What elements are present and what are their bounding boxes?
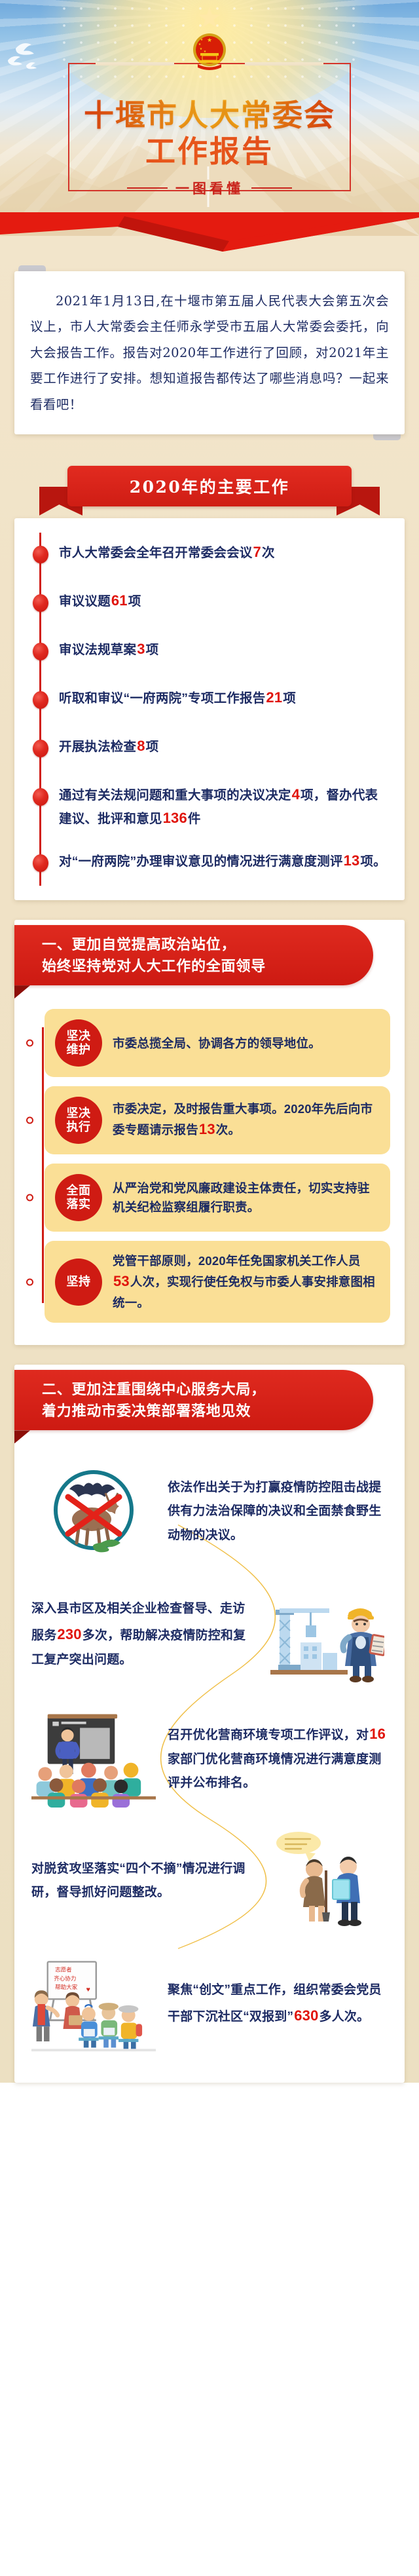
timeline-item: 通过有关法规问题和重大事项的决议决定4项，督办代表建议、批评和意见136件: [14, 783, 390, 829]
section-one-heading: 一、更加自觉提高政治站位， 始终坚持党对人大工作的全面领导: [14, 925, 373, 985]
highlight-number: 13: [343, 852, 361, 869]
page-title-line1: 十堰市人大常委会: [0, 98, 419, 133]
national-emblem-icon: ★ ★ ★ ★ ★: [191, 31, 228, 72]
timeline-dot-icon: [33, 788, 48, 806]
principle-card: 坚决 维护 市委总揽全局、协调各方的领导地位。: [45, 1009, 390, 1077]
highlight-number: 3: [136, 641, 145, 657]
highlight-number: 4: [291, 786, 301, 803]
timeline-item-text: 审议议题61项: [59, 589, 141, 613]
content-block: 召开优化营商环境专项工作评议，对16家部门优化营商环境情况进行满意度测评并公布排…: [14, 1696, 405, 1819]
highlight-number: 8: [136, 738, 145, 754]
red-ribbon-divider: [0, 212, 419, 263]
principle-card: 全面 落实 从严治党和党风廉政建设主体责任，切实支持驻机关纪检监察组履行职责。: [45, 1164, 390, 1232]
timeline-item: 开展执法检查8项: [14, 734, 390, 763]
highlight-number: 53: [113, 1273, 130, 1289]
timeline-item-text: 审议法规草案3项: [59, 637, 158, 661]
highlight-number: 21: [265, 689, 283, 706]
content-block: 深入县市区及相关企业检查督导、走访服务230多次，帮助解决疫情防控和复工复产突出…: [14, 1573, 405, 1696]
svg-text:♥: ♥: [86, 1986, 90, 1994]
timeline-dot-icon: [33, 546, 48, 563]
card-badge-label: 坚决 维护: [55, 1019, 102, 1067]
timeline-dot-icon: [33, 594, 48, 612]
timeline-item: 听取和审议“一府两院”专项工作报告21项: [14, 686, 390, 715]
section-two-heading: 二、更加注重围绕中心服务大局， 着力推动市委决策部署落地见效: [14, 1370, 373, 1430]
content-block-text: 对脱贫攻坚落实“四个不摘”情况进行调研，督导抓好问题整改。: [31, 1857, 251, 1905]
svg-text:志愿者: 志愿者: [55, 1966, 72, 1974]
content-block-text: 召开优化营商环境专项工作评议，对16家部门优化营商环境情况进行满意度测评并公布排…: [168, 1720, 388, 1796]
content-block: 对脱贫攻坚落实“四个不摘”情况进行调研，督导抓好问题整改。: [14, 1819, 405, 1942]
subtitle-rule-right: [251, 187, 292, 189]
card-badge-label: 坚决 执行: [55, 1097, 102, 1144]
timeline-panel: 市人大常委会全年召开常委会会议7次 审议议题61项 审议法规草案3项 听取和审议…: [14, 518, 405, 900]
subtitle-row: 一图看懂: [0, 178, 419, 198]
section-two-panel: 二、更加注重围绕中心服务大局， 着力推动市委决策部署落地见效: [14, 1365, 405, 2083]
svg-text:★: ★: [198, 43, 202, 47]
card-node-dot-icon: [26, 1117, 33, 1124]
timeline-dot-icon: [33, 691, 48, 709]
svg-text:★: ★: [200, 47, 203, 51]
highlight-number: 630: [293, 2007, 319, 2024]
section-one-heading-text: 一、更加自觉提高政治站位， 始终坚持党对人大工作的全面领导: [42, 934, 266, 977]
no-wild-animals-icon: [31, 1459, 156, 1564]
highlight-number: 230: [56, 1626, 82, 1642]
timeline-dot-icon: [33, 643, 48, 660]
banner-label: 2020年的主要工作: [130, 474, 290, 498]
card-body-text: 党管干部原则，2020年任免国家机关工作人员53人次，实现行使任免权与市委人事安…: [113, 1251, 377, 1312]
timeline-item: 审议法规草案3项: [14, 637, 390, 666]
ribbon-shape: [0, 212, 419, 263]
highlight-number: 13: [198, 1121, 216, 1137]
meeting-presentation-icon: [31, 1705, 156, 1810]
volunteer-board-graphic: 志愿者 齐心协力 帮助大家 ♥: [31, 1952, 156, 2056]
intro-paragraph: 2021年1月13日,在十堰市第五届人民代表大会第五次会议上，市人大常委会主任师…: [30, 288, 389, 417]
content-block-text: 深入县市区及相关企业检查督导、走访服务230多次，帮助解决疫情防控和复工复产突出…: [31, 1597, 251, 1673]
intro-card-wrapper: 2021年1月13日,在十堰市第五届人民代表大会第五次会议上，市人大常委会主任师…: [14, 271, 405, 434]
highlight-number-secondary: 136: [162, 810, 188, 826]
section-two-heading-text: 二、更加注重围绕中心服务大局， 着力推动市委决策部署落地见效: [42, 1378, 266, 1422]
section-one-cards: 坚决 维护 市委总揽全局、协调各方的领导地位。 坚决 执行 市委决定，及时报告重…: [29, 1005, 390, 1329]
timeline-dot-icon: [33, 740, 48, 757]
intro-card: 2021年1月13日,在十堰市第五届人民代表大会第五次会议上，市人大常委会主任师…: [14, 271, 405, 434]
card-badge-label: 坚持: [55, 1259, 102, 1306]
poverty-alleviation-icon: [263, 1828, 388, 1933]
infographic-page: ★: [0, 0, 419, 2083]
timeline-list: 市人大常委会全年召开常委会会议7次 审议议题61项 审议法规草案3项 听取和审议…: [14, 518, 405, 900]
card-body-text: 市委决定，及时报告重大事项。2020年先后向市委专题请示报告13次。: [113, 1099, 377, 1141]
construction-site-graphic: [266, 1582, 384, 1687]
section-one-heading-wrapper: 一、更加自觉提高政治站位， 始终坚持党对人大工作的全面领导: [14, 920, 419, 989]
subtitle-rule-left: [127, 187, 168, 189]
card-body-text: 从严治党和党风廉政建设主体责任，切实支持驻机关纪检监察组履行职责。: [113, 1179, 377, 1217]
timeline-item-text: 市人大常委会全年召开常委会会议7次: [59, 540, 275, 564]
page-subtitle: 一图看懂: [175, 178, 244, 198]
community-volunteers-icon: 志愿者 齐心协力 帮助大家 ♥: [31, 1952, 156, 2056]
heading-fold-decoration: [14, 1430, 30, 1443]
banner-ribbon: 2020年的主要工作: [67, 466, 352, 506]
card-badge-label: 全面 落实: [55, 1174, 102, 1221]
heading-fold-decoration: [14, 985, 30, 998]
timeline-item: 审议议题61项: [14, 589, 390, 618]
gold-star-icon: ★: [195, 4, 224, 33]
svg-text:★: ★: [207, 37, 212, 43]
card-node-dot-icon: [26, 1278, 33, 1285]
timeline-item-text: 通过有关法规问题和重大事项的决议决定4项，督办代表建议、批评和意见136件: [59, 783, 390, 829]
timeline-dot-icon: [33, 854, 48, 872]
timeline-item: 市人大常委会全年召开常委会会议7次: [14, 540, 390, 569]
section-two-heading-wrapper: 二、更加注重围绕中心服务大局， 着力推动市委决策部署落地见效: [14, 1365, 419, 1434]
timeline-item-text: 对“一府两院”办理审议意见的情况进行满意度测评13项。: [59, 849, 386, 873]
no-wild-animals-graphic: [38, 1459, 149, 1564]
highlight-number: 7: [253, 544, 262, 560]
section-banner-2020: 2020年的主要工作: [0, 461, 419, 518]
section-one-panel: 一、更加自觉提高政治站位， 始终坚持党对人大工作的全面领导 坚决 维护 市委总揽…: [14, 920, 405, 1345]
cards-vertical-rail: [42, 1027, 44, 1303]
principle-card: 坚决 执行 市委决定，及时报告重大事项。2020年先后向市委专题请示报告13次。: [45, 1086, 390, 1154]
section-two-blocks: 依法作出关于为打赢疫情防控阻击战提供有力法治保障的决议和全面禁食野生动物的决议。: [14, 1450, 405, 2083]
highlight-number: 16: [369, 1726, 386, 1742]
timeline-item-text: 开展执法检查8项: [59, 734, 158, 758]
card-node-dot-icon: [26, 1194, 33, 1202]
farmer-and-official-graphic: [270, 1828, 381, 1933]
page-title-line2: 工作报告: [0, 133, 419, 170]
timeline-item: 对“一府两院”办理审议意见的情况进行满意度测评13项。: [14, 849, 390, 878]
construction-worker-icon: [263, 1582, 388, 1687]
card-body-text: 市委总揽全局、协调各方的领导地位。: [113, 1034, 321, 1053]
highlight-number: 61: [111, 592, 128, 609]
hero-title-group: 十堰市人大常委会 工作报告 一图看懂: [0, 98, 419, 198]
content-block: 依法作出关于为打赢疫情防控阻击战提供有力法治保障的决议和全面禁食野生动物的决议。: [14, 1450, 405, 1573]
content-block: 志愿者 齐心协力 帮助大家 ♥: [14, 1942, 405, 2066]
card-node-dot-icon: [26, 1040, 33, 1047]
svg-text:齐心协力: 齐心协力: [54, 1975, 76, 1982]
content-block-text: 依法作出关于为打赢疫情防控阻击战提供有力法治保障的决议和全面禁食野生动物的决议。: [168, 1476, 388, 1547]
svg-text:★: ★: [200, 38, 204, 42]
svg-text:帮助大家: 帮助大家: [55, 1984, 78, 1992]
hero-header: ★: [0, 0, 419, 236]
principle-card: 坚持 党管干部原则，2020年任免国家机关工作人员53人次，实现行使任免权与市委…: [45, 1241, 390, 1323]
presentation-graphic: [31, 1705, 156, 1810]
content-block-text: 聚焦“创文”重点工作，组织常委会党员干部下沉社区“双报到”630多人次。: [168, 1979, 388, 2030]
timeline-item-text: 听取和审议“一府两院”专项工作报告21项: [59, 686, 296, 710]
